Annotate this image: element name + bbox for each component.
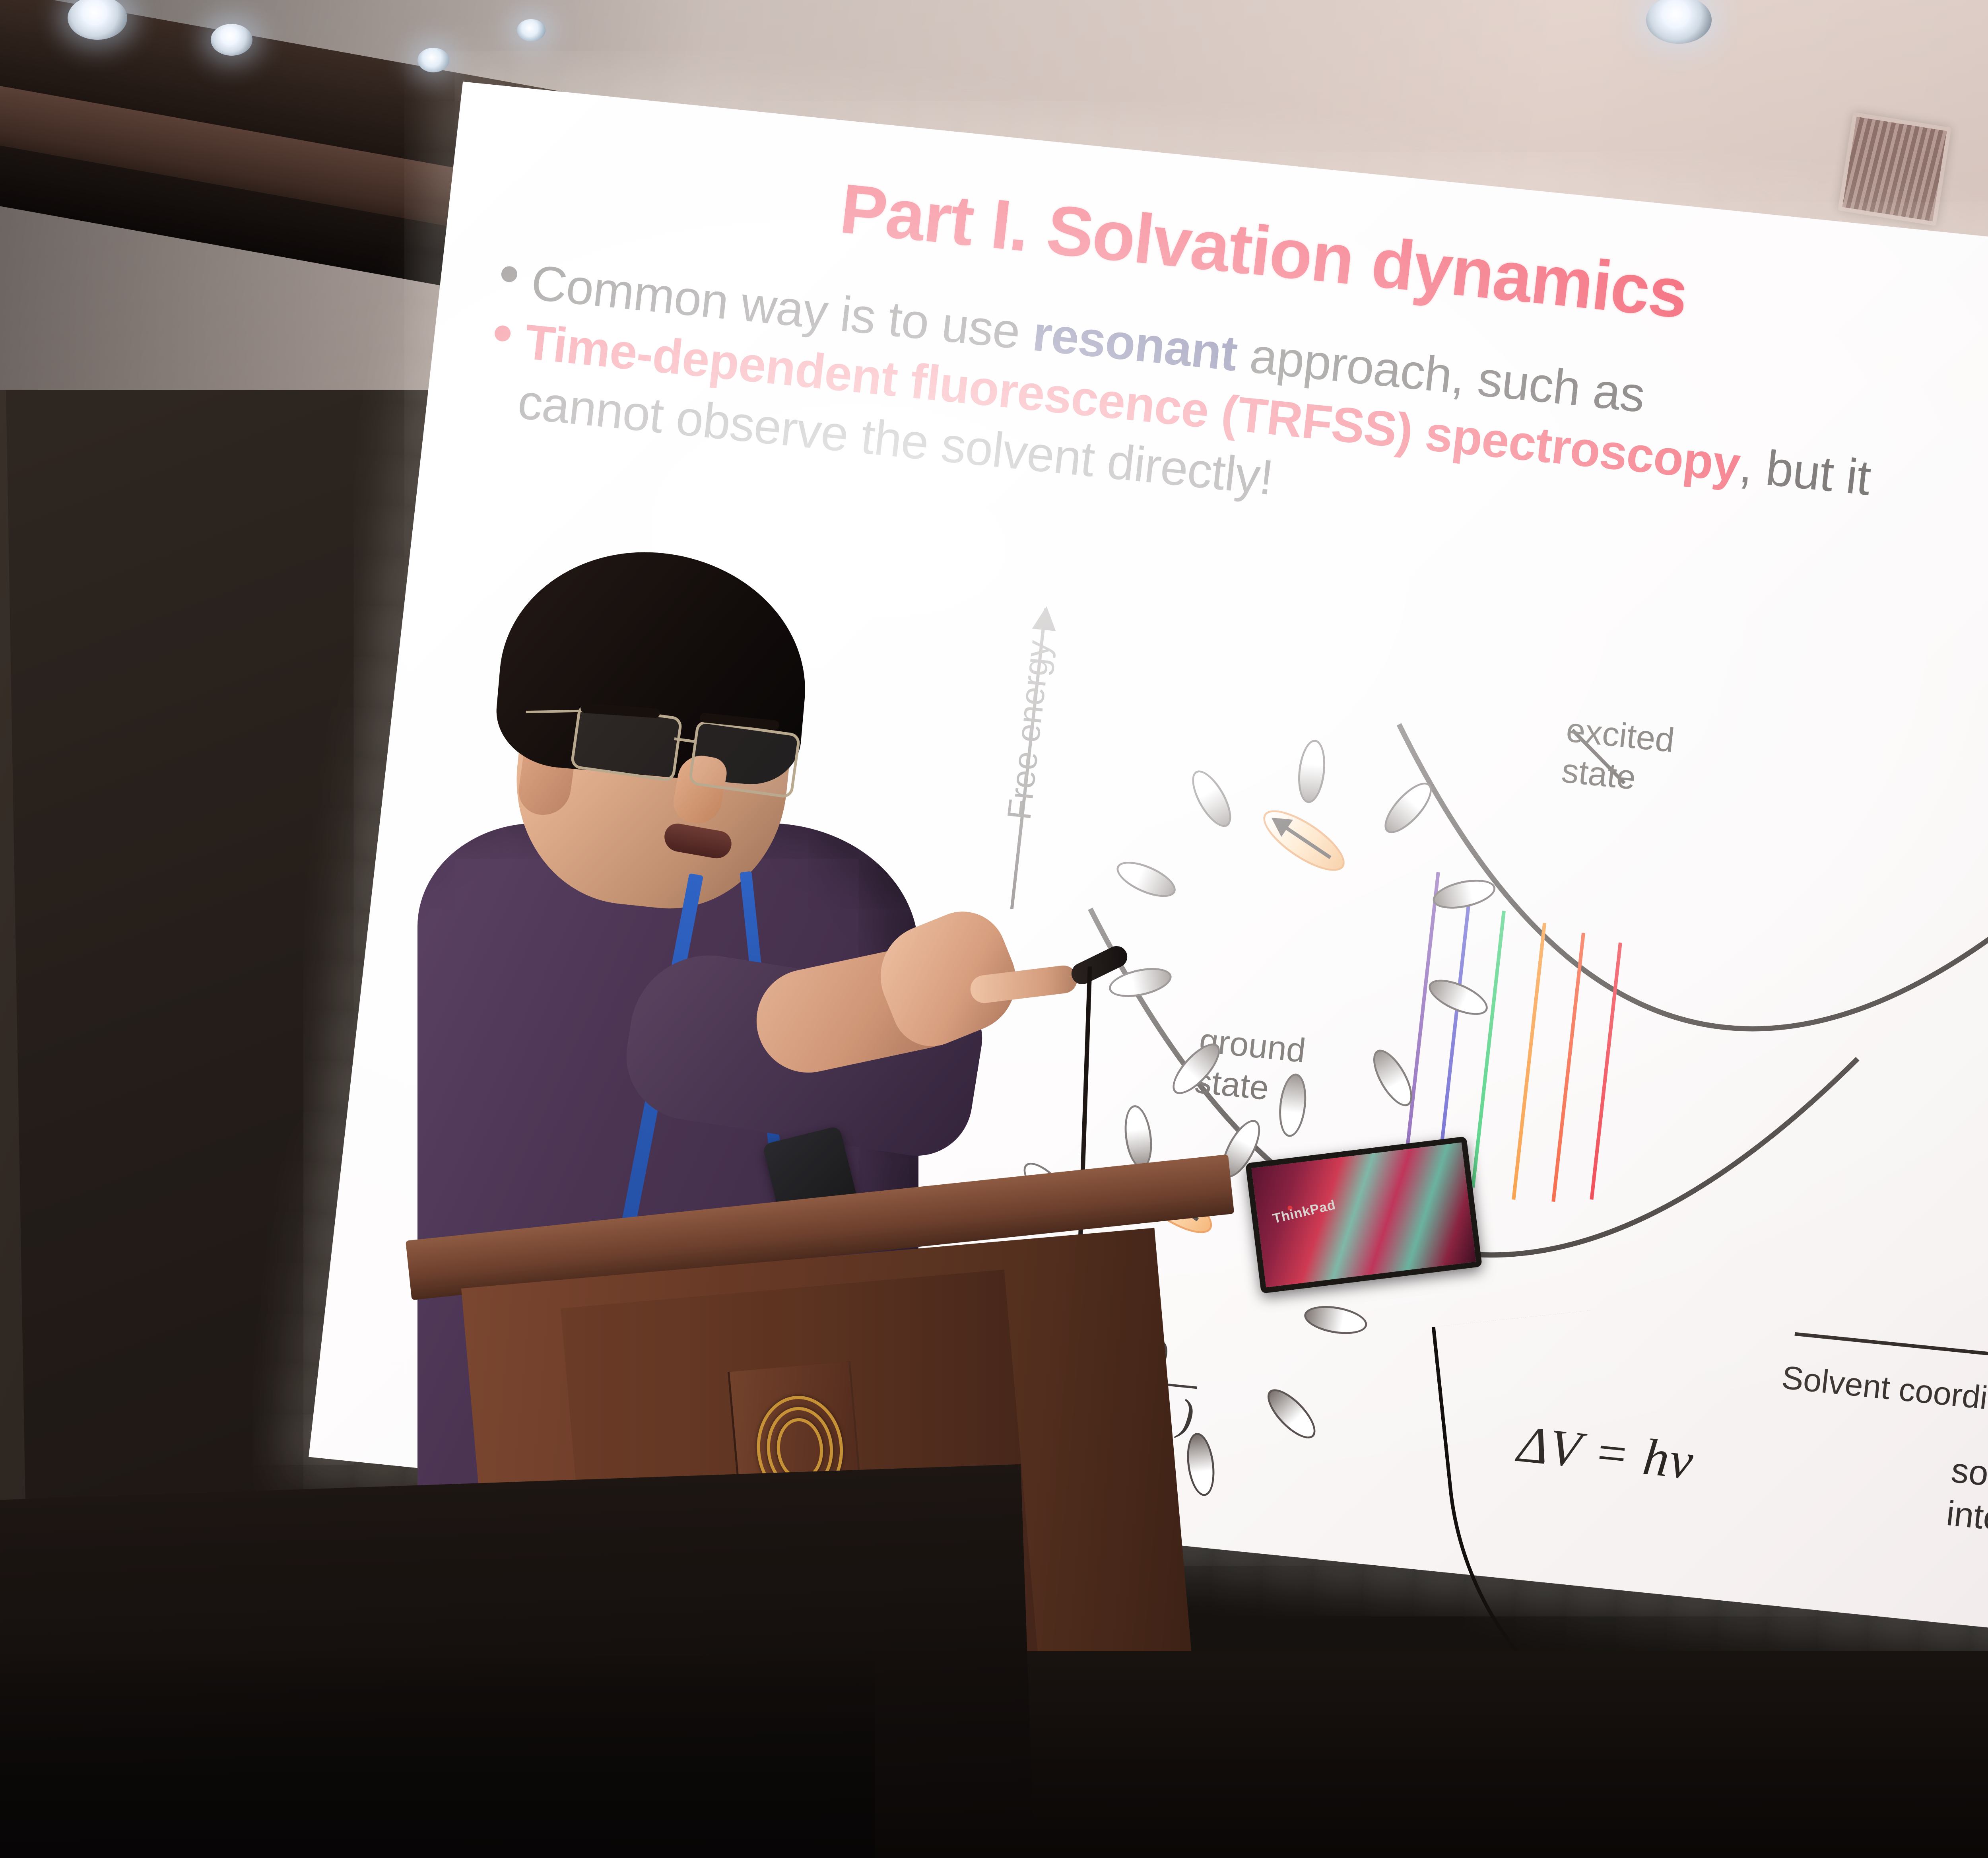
transition-arrow-emission-5	[1590, 943, 1622, 1200]
ground-state-label: ground state	[1193, 1020, 1308, 1112]
transition-arrow-emission-2	[1471, 911, 1506, 1188]
excited-state-label-line2: state	[1559, 750, 1672, 802]
dipole-arrow-icon	[1273, 818, 1331, 859]
excited-state-label-line1: excited	[1564, 709, 1677, 761]
transition-arrow-emission-1	[1438, 895, 1472, 1164]
solute-core-icon	[1255, 799, 1353, 881]
presentation-photo: Part I. Solvation dynamics Common way is…	[0, 0, 1988, 1858]
glasses-lens-right	[688, 720, 801, 799]
transition-arrow-emission-3	[1512, 923, 1546, 1200]
transition-arrow-emission-4	[1551, 933, 1585, 1202]
transition-arrow-excitation	[1406, 872, 1440, 1145]
foreground-shadow	[0, 1651, 875, 1858]
spotlight-icon	[417, 48, 449, 72]
hvac-vent-icon	[1838, 112, 1951, 226]
bullet-2-part-2: , but it	[1737, 438, 1873, 505]
microphone-capsule-icon	[1068, 943, 1131, 988]
ground-state-label-line2: state	[1193, 1061, 1303, 1113]
ground-state-label-line1: ground	[1197, 1020, 1308, 1072]
excited-state-curve	[1369, 724, 1988, 1065]
spotlight-icon	[517, 19, 546, 41]
excited-state-leader-line	[1567, 730, 1630, 783]
spotlight-icon	[211, 24, 252, 56]
solvent-shell-cartoon	[1188, 725, 1416, 952]
excited-state-label: excited state	[1559, 709, 1676, 802]
